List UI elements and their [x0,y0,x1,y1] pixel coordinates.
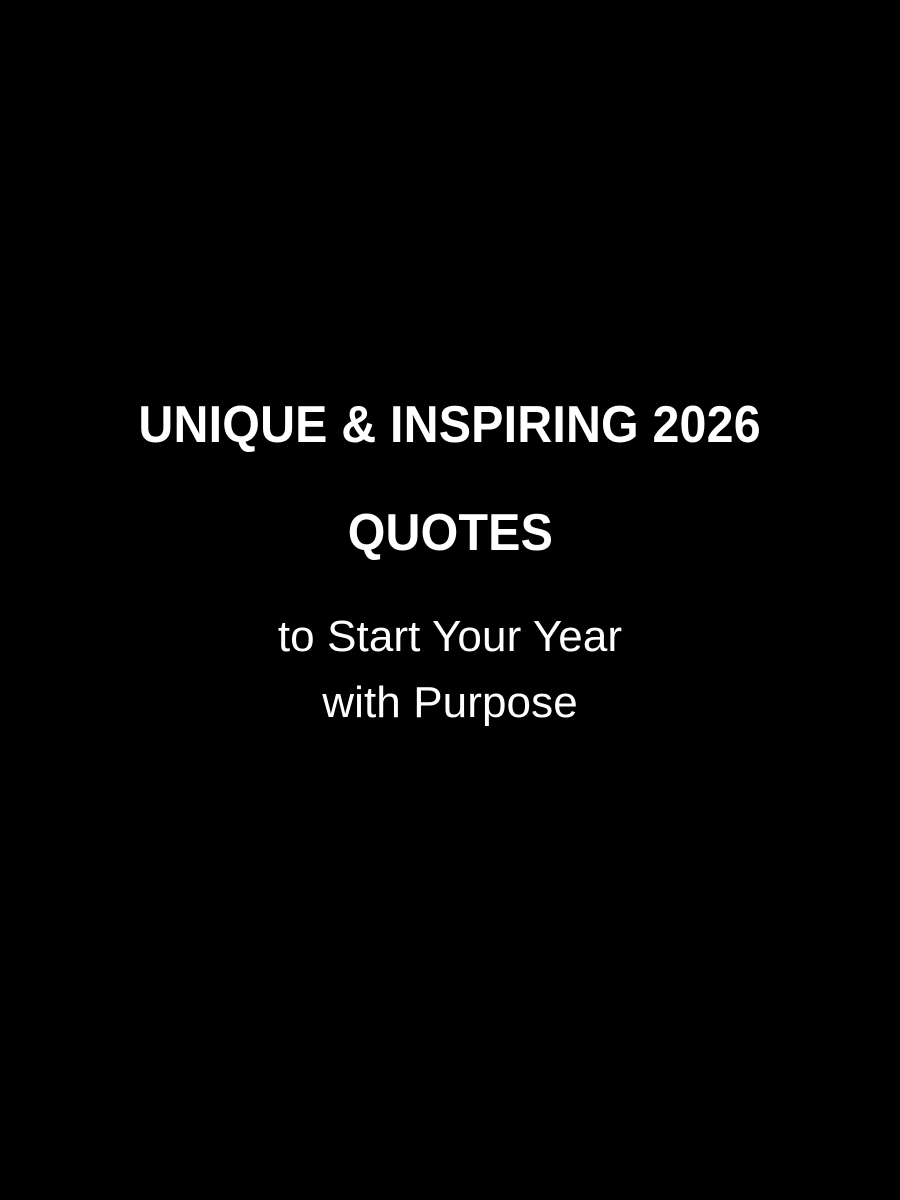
poster-subtitle: to Start Your Year with Purpose [278,604,622,736]
poster-headline-line-1: UNIQUE & INSPIRING 2026 [139,396,761,454]
poster-subtitle-line-2: with Purpose [278,670,622,736]
poster-headline-line-2: QUOTES [347,504,552,562]
quote-poster: UNIQUE & INSPIRING 2026 QUOTES to Start … [0,0,900,1200]
poster-subtitle-line-1: to Start Your Year [278,604,622,670]
poster-text-block: UNIQUE & INSPIRING 2026 QUOTES to Start … [0,396,900,736]
